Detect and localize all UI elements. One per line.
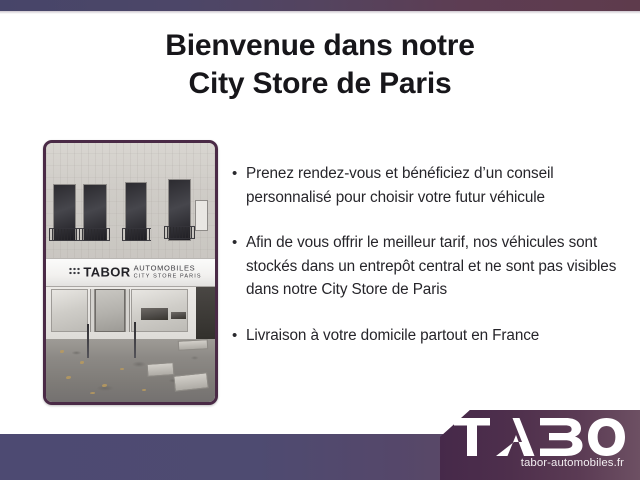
bullet-marker-icon: •: [232, 231, 246, 255]
kerb-stone: [174, 372, 209, 391]
balcony-railing: [164, 226, 194, 239]
fallen-leaf: [60, 350, 64, 353]
interior-display: [171, 312, 186, 319]
title-line-1: Bienvenue dans notre: [0, 27, 640, 65]
top-accent-bar: [0, 0, 640, 11]
kerb-stone: [178, 339, 209, 351]
storefront-sign-content: TABOR AUTOMOBILES CITY STORE PARIS: [46, 265, 215, 280]
fallen-leaf: [90, 392, 95, 394]
bullet-list: • Prenez rendez-vous et bénéficiez d’un …: [232, 162, 628, 370]
fallen-leaf: [80, 361, 84, 364]
side-signage-panel: [196, 287, 215, 339]
brand-logo: tabor-automobiles.fr: [446, 418, 626, 469]
sign-subtitle-group: AUTOMOBILES CITY STORE PARIS: [134, 265, 202, 280]
list-item-text: Prenez rendez-vous et bénéficiez d’un co…: [246, 162, 628, 209]
window: [195, 200, 209, 231]
balcony-railing: [49, 228, 110, 241]
bollard: [134, 322, 136, 358]
list-item: • Prenez rendez-vous et bénéficiez d’un …: [232, 162, 628, 209]
storefront-sign-band: TABOR AUTOMOBILES CITY STORE PARIS: [46, 258, 215, 286]
kerb-stone: [147, 362, 175, 377]
page-title: Bienvenue dans notre City Store de Paris: [0, 27, 640, 103]
shopfront-glazing: [46, 287, 215, 339]
top-accent-bar-shadow: [0, 11, 640, 14]
tabor-wordmark-icon: [454, 418, 626, 456]
footer-bar: tabor-automobiles.fr: [0, 405, 640, 480]
list-item: • Livraison à votre domicile partout en …: [232, 324, 628, 348]
balcony-railing: [122, 228, 151, 241]
interior-counter: [141, 308, 168, 319]
storefront-photo: TABOR AUTOMOBILES CITY STORE PARIS: [43, 140, 218, 405]
bullet-marker-icon: •: [232, 324, 246, 348]
sign-dot-pattern-icon: [69, 268, 80, 277]
slide-canvas: Bienvenue dans notre City Store de Paris…: [0, 0, 640, 480]
website-url: tabor-automobiles.fr: [446, 457, 626, 469]
list-item-text: Afin de vous offrir le meilleur tarif, n…: [246, 231, 628, 302]
sign-subtitle-line-2: CITY STORE PARIS: [134, 274, 202, 280]
shop-entrance-door: [95, 289, 125, 333]
title-line-2: City Store de Paris: [0, 65, 640, 103]
shop-window-left: [51, 289, 88, 333]
sign-subtitle-line-1: AUTOMOBILES: [134, 265, 202, 273]
bullet-marker-icon: •: [232, 162, 246, 186]
storefront-photo-image: TABOR AUTOMOBILES CITY STORE PARIS: [46, 143, 215, 402]
list-item: • Afin de vous offrir le meilleur tarif,…: [232, 231, 628, 302]
bollard: [87, 324, 89, 358]
sign-brand-text: TABOR: [83, 266, 130, 278]
list-item-text: Livraison à votre domicile partout en Fr…: [246, 324, 628, 348]
fallen-leaf: [102, 384, 107, 387]
